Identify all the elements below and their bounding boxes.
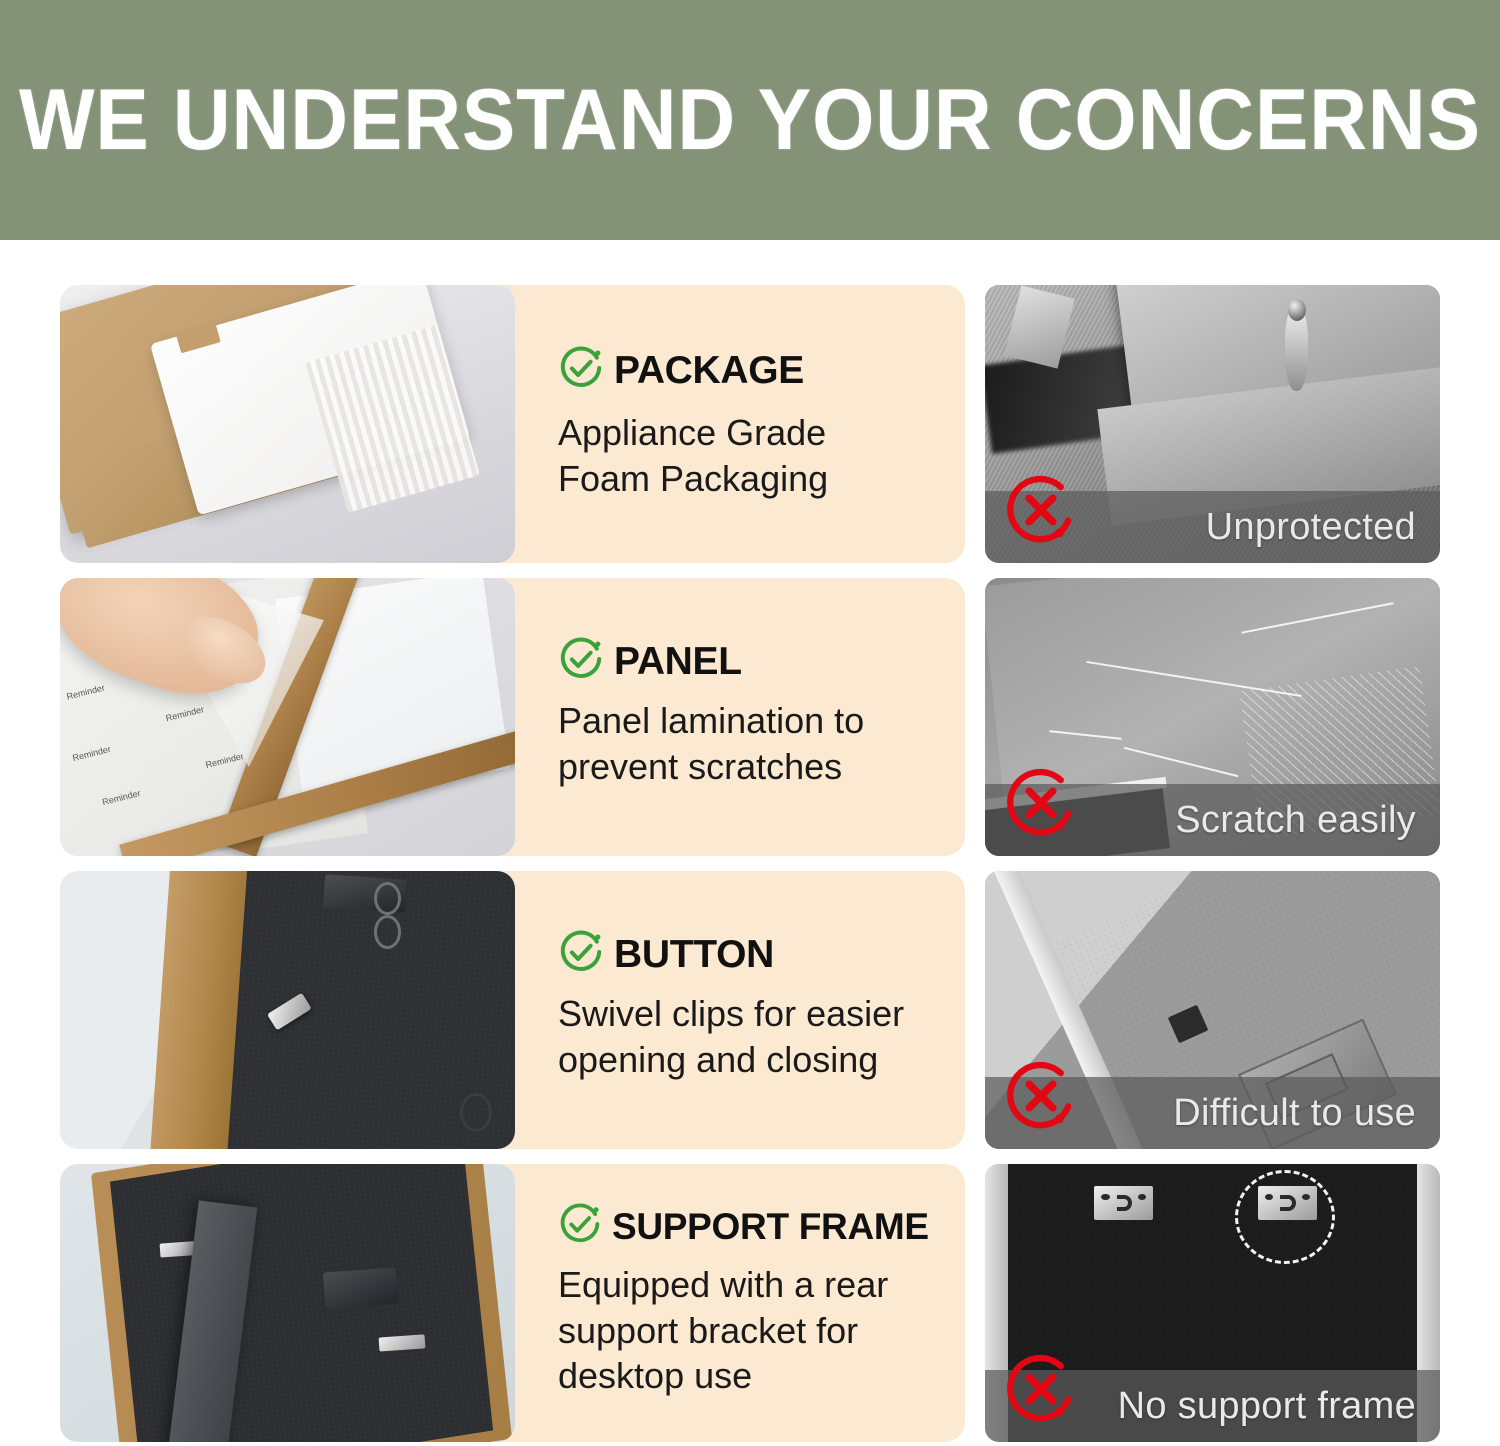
product-comparison-infographic: WE UNDERSTAND YOUR CONCERNS	[0, 0, 1500, 1446]
film-reminder-text: Reminder	[72, 744, 112, 763]
feature-description: Appliance Grade Foam Packaging	[558, 410, 983, 501]
feature-heading: BUTTON	[558, 929, 774, 980]
negative-label: Unprotected	[1206, 506, 1416, 549]
feature-row: SUPPORT FRAME Equipped with a rear suppo…	[0, 1159, 1500, 1446]
feature-card: Reminder Reminder Reminder Reminder Remi…	[60, 578, 965, 856]
header-banner: WE UNDERSTAND YOUR CONCERNS	[0, 0, 1500, 240]
negative-panel: Unprotected	[985, 285, 1440, 563]
feature-title: PACKAGE	[614, 349, 804, 393]
feature-text: PACKAGE Appliance Grade Foam Packaging	[550, 285, 965, 563]
check-circle-icon	[558, 345, 604, 396]
feature-heading: SUPPORT FRAME	[558, 1202, 929, 1251]
page-title: WE UNDERSTAND YOUR CONCERNS	[19, 71, 1481, 170]
check-circle-icon	[558, 1202, 602, 1251]
feature-description: Equipped with a rear support bracket for…	[558, 1262, 983, 1399]
negative-panel: No support frame	[985, 1164, 1440, 1442]
negative-panel: Difficult to use	[985, 871, 1440, 1149]
feature-photo-support-frame	[60, 1164, 515, 1442]
feature-title: PANEL	[614, 640, 742, 684]
check-circle-icon	[558, 929, 604, 980]
negative-label: Scratch easily	[1175, 799, 1416, 842]
check-circle-icon	[558, 636, 604, 687]
feature-text: PANEL Panel lamination to prevent scratc…	[550, 578, 965, 856]
highlight-dashed-circle	[1235, 1170, 1335, 1265]
film-reminder-text: Reminder	[66, 683, 106, 702]
x-circle-icon	[1003, 1351, 1079, 1432]
x-circle-icon	[1003, 765, 1079, 846]
feature-row: Reminder Reminder Reminder Reminder Remi…	[0, 573, 1500, 866]
feature-heading: PANEL	[558, 636, 742, 687]
feature-description: Panel lamination to prevent scratches	[558, 698, 983, 789]
feature-card: PACKAGE Appliance Grade Foam Packaging	[60, 285, 965, 563]
feature-description: Swivel clips for easier opening and clos…	[558, 991, 998, 1082]
film-reminder-text: Reminder	[165, 704, 205, 723]
negative-label: Difficult to use	[1173, 1092, 1416, 1135]
feature-text: BUTTON Swivel clips for easier opening a…	[550, 871, 965, 1149]
feature-photo-panel: Reminder Reminder Reminder Reminder Remi…	[60, 578, 515, 856]
film-reminder-text: Reminder	[205, 751, 245, 770]
feature-rows: PACKAGE Appliance Grade Foam Packaging U…	[0, 240, 1500, 1446]
feature-row: PACKAGE Appliance Grade Foam Packaging U…	[0, 280, 1500, 573]
feature-title: BUTTON	[614, 933, 774, 977]
negative-panel: Scratch easily	[985, 578, 1440, 856]
feature-photo-package	[60, 285, 515, 563]
feature-heading: PACKAGE	[558, 345, 804, 396]
film-reminder-text: Reminder	[101, 788, 141, 807]
negative-label: No support frame	[1118, 1385, 1416, 1428]
feature-photo-button	[60, 871, 515, 1149]
x-circle-icon	[1003, 472, 1079, 553]
feature-row: BUTTON Swivel clips for easier opening a…	[0, 866, 1500, 1159]
feature-card: BUTTON Swivel clips for easier opening a…	[60, 871, 965, 1149]
feature-card: SUPPORT FRAME Equipped with a rear suppo…	[60, 1164, 965, 1442]
x-circle-icon	[1003, 1058, 1079, 1139]
feature-title: SUPPORT FRAME	[612, 1206, 929, 1248]
feature-text: SUPPORT FRAME Equipped with a rear suppo…	[550, 1164, 965, 1442]
